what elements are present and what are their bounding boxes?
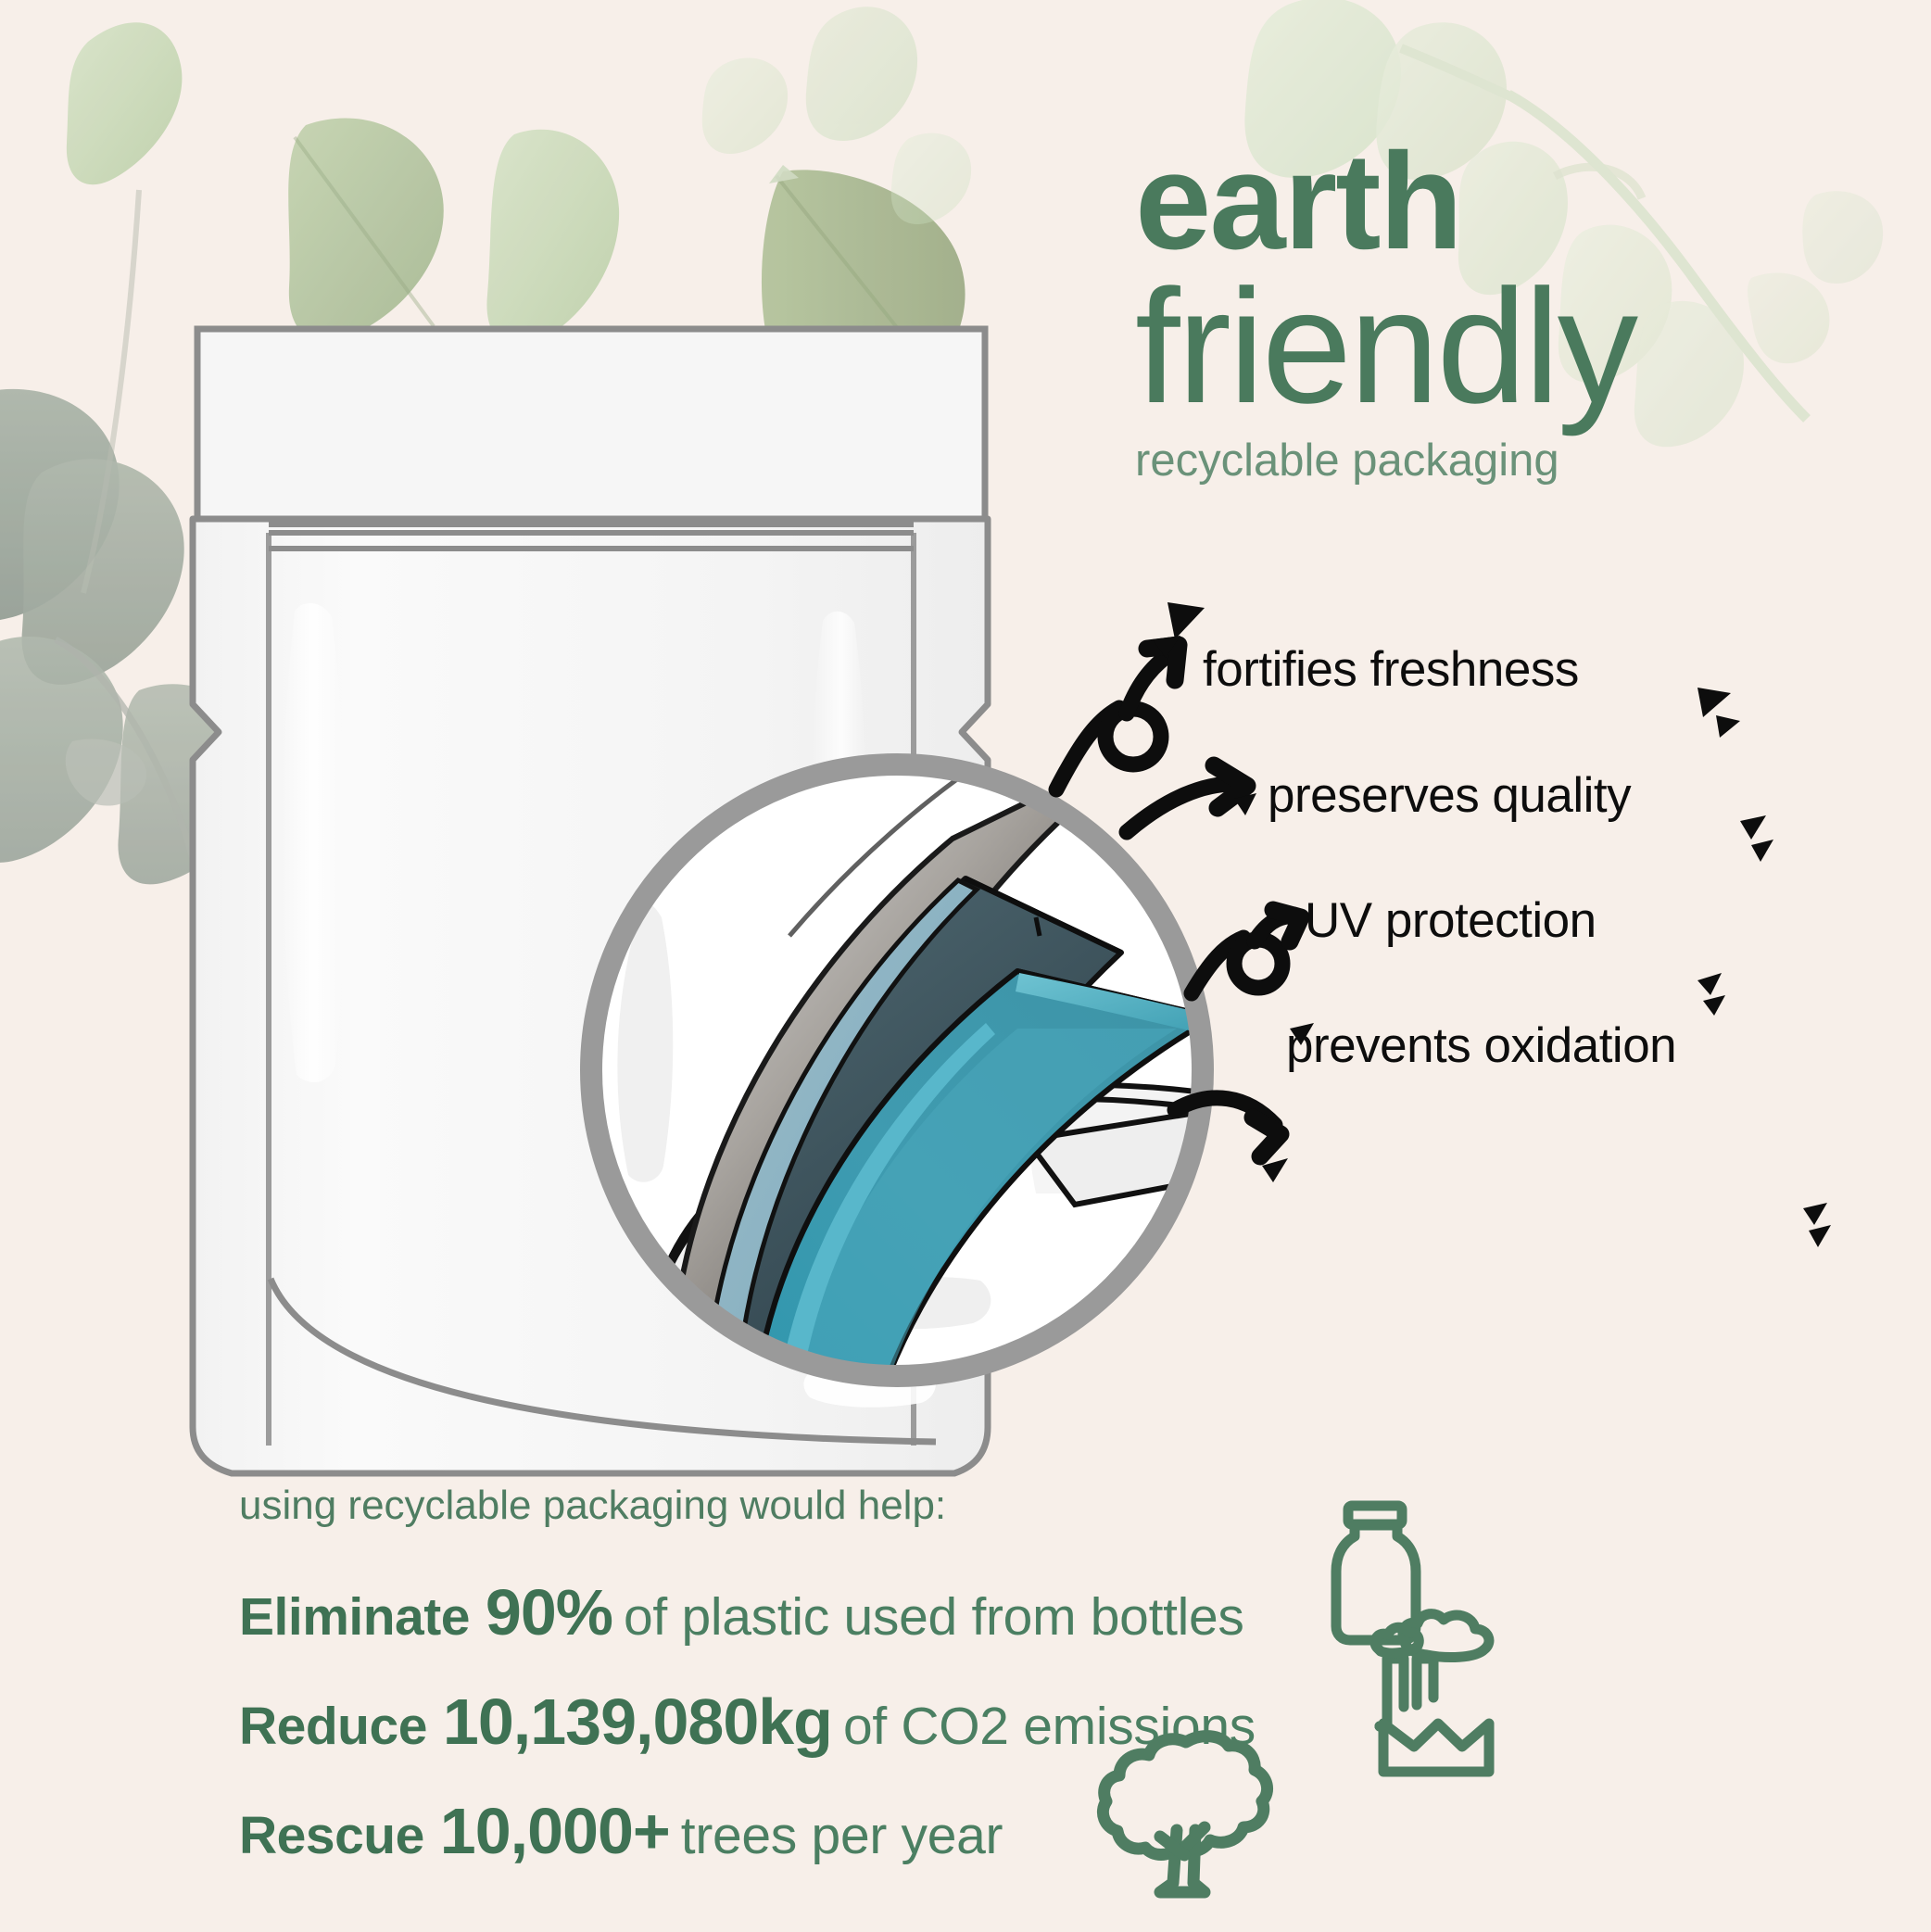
tree-icon [1103, 1736, 1267, 1892]
infographic-canvas: earth friendly recyclable packaging fort… [0, 0, 1931, 1932]
factory-icon [1375, 1614, 1489, 1772]
bottle-icon [1336, 1506, 1416, 1640]
stat-icons-group [0, 0, 1931, 1932]
